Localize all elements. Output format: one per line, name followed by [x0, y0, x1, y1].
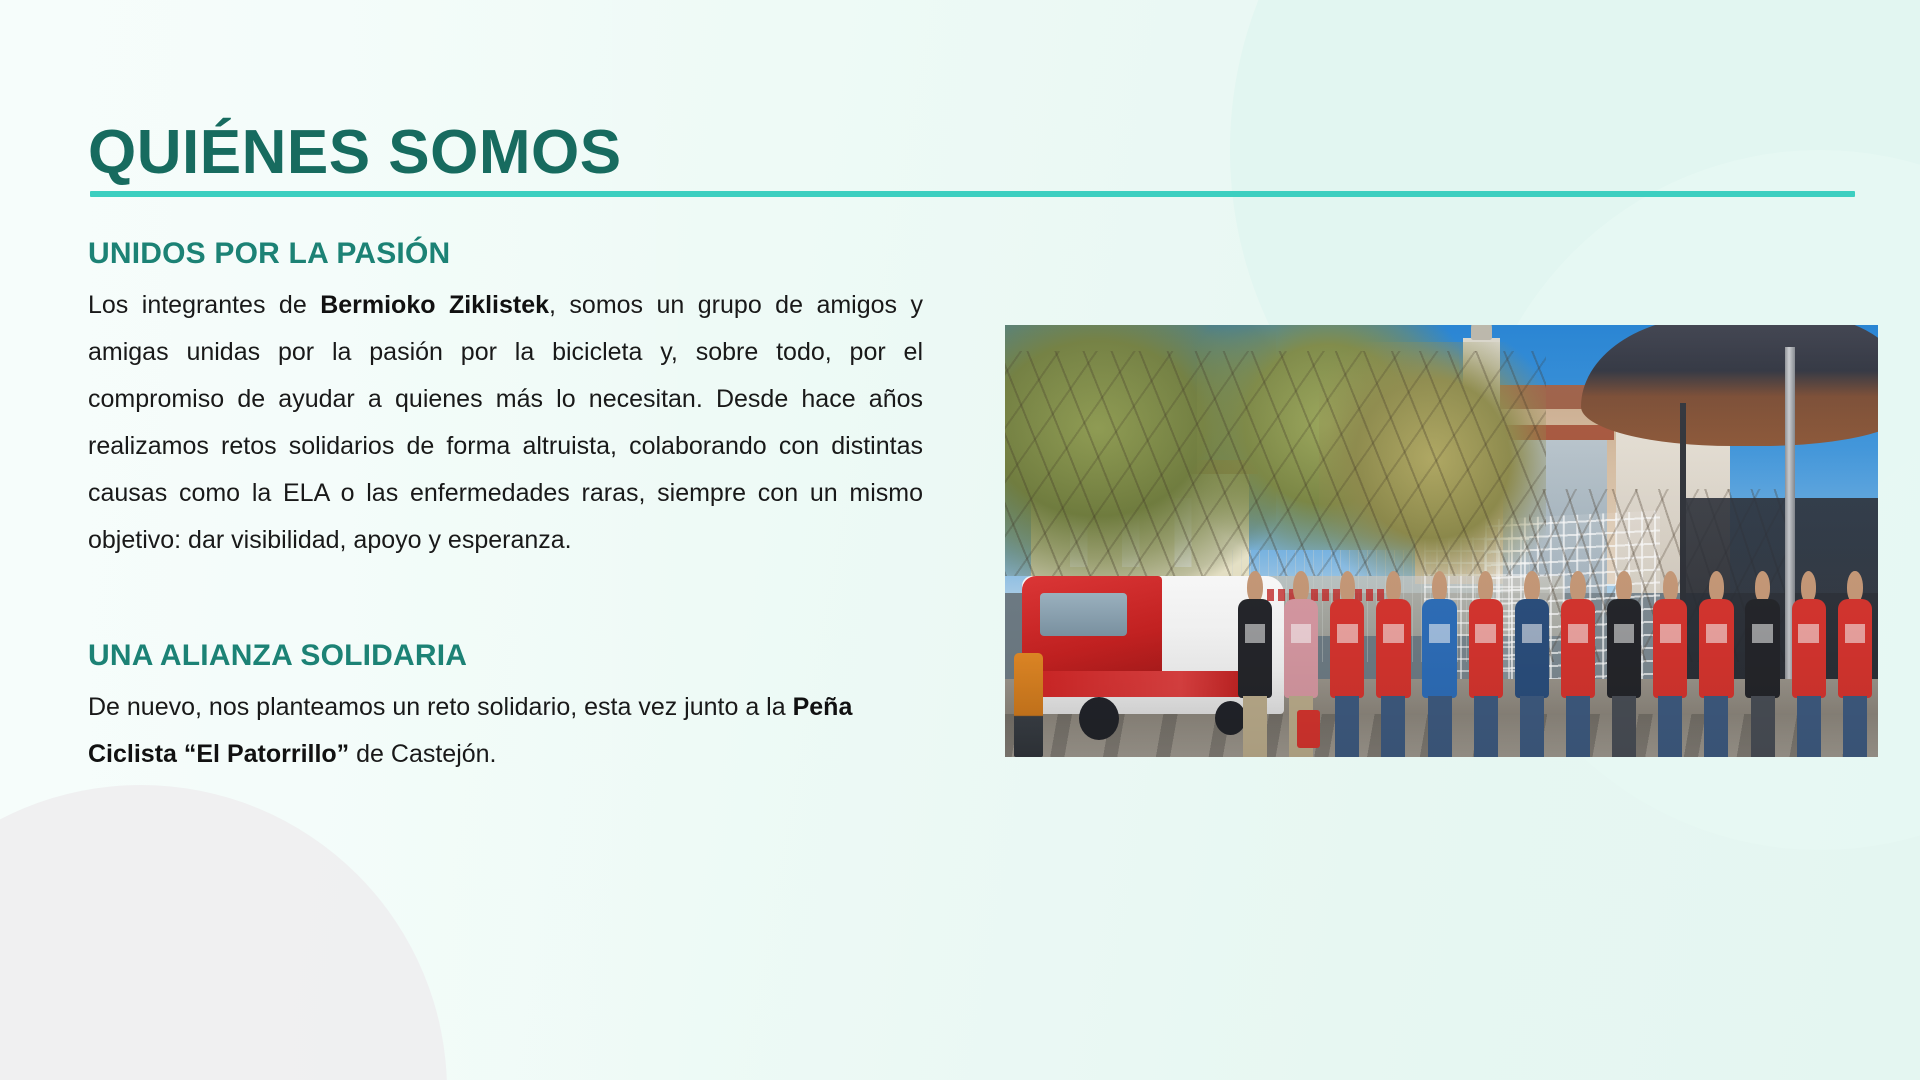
- section-paragraph-unidos-por-la-pasion: Los integrantes de Bermioko Ziklistek, s…: [88, 282, 923, 564]
- section-heading-una-alianza-solidaria: UNA ALIANZA SOLIDARIA: [88, 638, 923, 674]
- section-spacer: [88, 564, 923, 638]
- body-text-run: , somos un grupo de amigos y amigas unid…: [88, 291, 923, 554]
- page-title: QUIÉNES SOMOS: [88, 120, 622, 185]
- body-text-run: De nuevo, nos planteamos un reto solidar…: [88, 693, 793, 721]
- slide-quienes-somos: QUIÉNES SOMOS UNIDOS POR LA PASIÓN Los i…: [0, 0, 1920, 1080]
- photo-tone-overlay: [1005, 325, 1878, 757]
- section-heading-unidos-por-la-pasion: UNIDOS POR LA PASIÓN: [88, 236, 923, 272]
- section-paragraph-una-alianza-solidaria: De nuevo, nos planteamos un reto solidar…: [88, 684, 923, 778]
- slide-content: QUIÉNES SOMOS UNIDOS POR LA PASIÓN Los i…: [0, 0, 1920, 1080]
- body-text-run: de Castejón.: [349, 740, 496, 768]
- emphasis-text: Bermioko Ziklistek: [320, 291, 549, 319]
- body-text-run: Los integrantes de: [88, 291, 320, 319]
- text-column: UNIDOS POR LA PASIÓN Los integrantes de …: [88, 236, 923, 778]
- group-photo-image: [1005, 325, 1878, 757]
- title-divider-rule: [90, 191, 1855, 197]
- group-photo: [1005, 325, 1878, 757]
